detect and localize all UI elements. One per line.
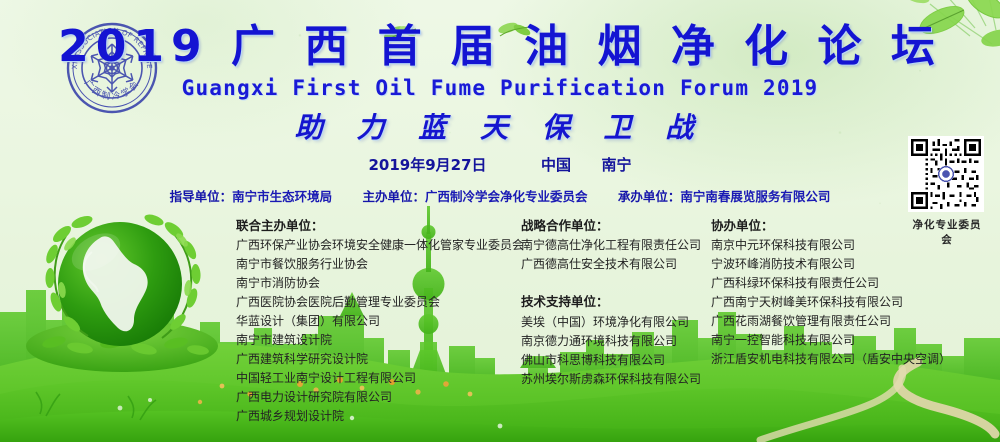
organiser-guidance: 指导单位：南宁市生态环境局 bbox=[170, 186, 333, 205]
organiser-host-label: 主办单位： bbox=[362, 189, 425, 204]
list-item: 南宁德高仕净化工程有限责任公司 bbox=[521, 236, 711, 255]
list-item: 华蓝设计（集团）有限公司 bbox=[236, 312, 521, 331]
group-title: 战略合作单位： bbox=[521, 216, 711, 235]
list-item: 广西电力设计研究院有限公司 bbox=[236, 388, 521, 407]
event-country: 中国 bbox=[541, 156, 571, 174]
column-joint-organisers: 联合主办单位： 广西环保产业协会环境安全健康一体化管家专业委员会 南宁市餐饮服务… bbox=[236, 216, 521, 436]
list-item: 广西南宁天树峰美环保科技有限公司 bbox=[711, 293, 996, 312]
group-technical-support: 技术支持单位： 美埃（中国）环境净化有限公司 南京德力通环境科技有限公司 佛山市… bbox=[521, 292, 711, 388]
group-strategic-partners: 战略合作单位： 南宁德高仕净化工程有限责任公司 广西德高仕安全技术有限公司 bbox=[521, 216, 711, 274]
organiser-guidance-value: 南宁市生态环境局 bbox=[232, 189, 332, 204]
partner-columns: 联合主办单位： 广西环保产业协会环境安全健康一体化管家专业委员会 南宁市餐饮服务… bbox=[0, 216, 1000, 436]
banner-poster: GUANGXI ASSOCIATION OF REFRIGERATION 广西制… bbox=[0, 0, 1000, 442]
organiser-host: 主办单位：广西制冷学会净化专业委员会 bbox=[362, 186, 587, 205]
qr-code-icon[interactable] bbox=[908, 136, 984, 212]
list-item: 广西城乡规划设计院 bbox=[236, 407, 521, 426]
list-item: 广西德高仕安全技术有限公司 bbox=[521, 255, 711, 274]
list-item: 中国轻工业南宁设计工程有限公司 bbox=[236, 369, 521, 388]
group-title: 技术支持单位： bbox=[521, 292, 711, 311]
group-title: 协办单位： bbox=[711, 216, 996, 235]
group-co-organisers: 协办单位： 南京中元环保科技有限公司 宁波环峰消防技术有限公司 广西科绿环保科技… bbox=[711, 216, 996, 369]
list-item: 广西医院协会医院后勤管理专业委员会 bbox=[236, 293, 521, 312]
list-item: 美埃（中国）环境净化有限公司 bbox=[521, 313, 711, 332]
list-item: 广西建筑科学研究设计院 bbox=[236, 350, 521, 369]
list-item: 宁波环峰消防技术有限公司 bbox=[711, 255, 996, 274]
headline-block: 2019 广 西 首 届 油 烟 净 化 论 坛 Guangxi First O… bbox=[0, 22, 1000, 175]
list-item: 南宁市消防协会 bbox=[236, 274, 521, 293]
group-title: 联合主办单位： bbox=[236, 216, 521, 235]
event-datetime-location: 2019年9月27日 中国 南宁 bbox=[0, 154, 1000, 175]
event-date: 2019年9月27日 bbox=[368, 156, 486, 174]
list-item: 南京德力通环境科技有限公司 bbox=[521, 332, 711, 351]
slogan: 助 力 蓝 天 保 卫 战 bbox=[0, 106, 1000, 146]
event-city: 南宁 bbox=[602, 156, 632, 174]
organiser-undertaker-value: 南宁南春展览服务有限公司 bbox=[680, 189, 830, 204]
organiser-undertaker: 承办单位：南宁南春展览服务有限公司 bbox=[618, 186, 831, 205]
list-item: 广西科绿环保科技有限责任公司 bbox=[711, 274, 996, 293]
list-item: 苏州埃尔斯虏森环保科技有限公司 bbox=[521, 370, 711, 389]
list-item: 浙江盾安机电科技有限公司（盾安中央空调） bbox=[711, 350, 996, 369]
list-item: 南宁市餐饮服务行业协会 bbox=[236, 255, 521, 274]
group-joint-organisers: 联合主办单位： 广西环保产业协会环境安全健康一体化管家专业委员会 南宁市餐饮服务… bbox=[236, 216, 521, 426]
organiser-undertaker-label: 承办单位： bbox=[618, 189, 681, 204]
column-strategic-and-technical: 战略合作单位： 南宁德高仕净化工程有限责任公司 广西德高仕安全技术有限公司 技术… bbox=[521, 216, 711, 398]
list-item: 南京中元环保科技有限公司 bbox=[711, 236, 996, 255]
list-item: 南宁一控智能科技有限公司 bbox=[711, 331, 996, 350]
list-item: 南宁市建筑设计院 bbox=[236, 331, 521, 350]
column-co-organisers: 协办单位： 南京中元环保科技有限公司 宁波环峰消防技术有限公司 广西科绿环保科技… bbox=[711, 216, 996, 379]
list-item: 广西花雨湖餐饮管理有限责任公司 bbox=[711, 312, 996, 331]
page-title: 2019 广 西 首 届 油 烟 净 化 论 坛 bbox=[0, 22, 1000, 71]
list-item: 佛山市科思博科技有限公司 bbox=[521, 351, 711, 370]
organiser-line: 指导单位：南宁市生态环境局 主办单位：广西制冷学会净化专业委员会 承办单位：南宁… bbox=[0, 186, 1000, 205]
list-item: 广西环保产业协会环境安全健康一体化管家专业委员会 bbox=[236, 236, 521, 255]
english-subtitle: Guangxi First Oil Fume Purification Foru… bbox=[0, 76, 1000, 100]
organiser-guidance-label: 指导单位： bbox=[170, 189, 233, 204]
organiser-host-value: 广西制冷学会净化专业委员会 bbox=[425, 189, 588, 204]
